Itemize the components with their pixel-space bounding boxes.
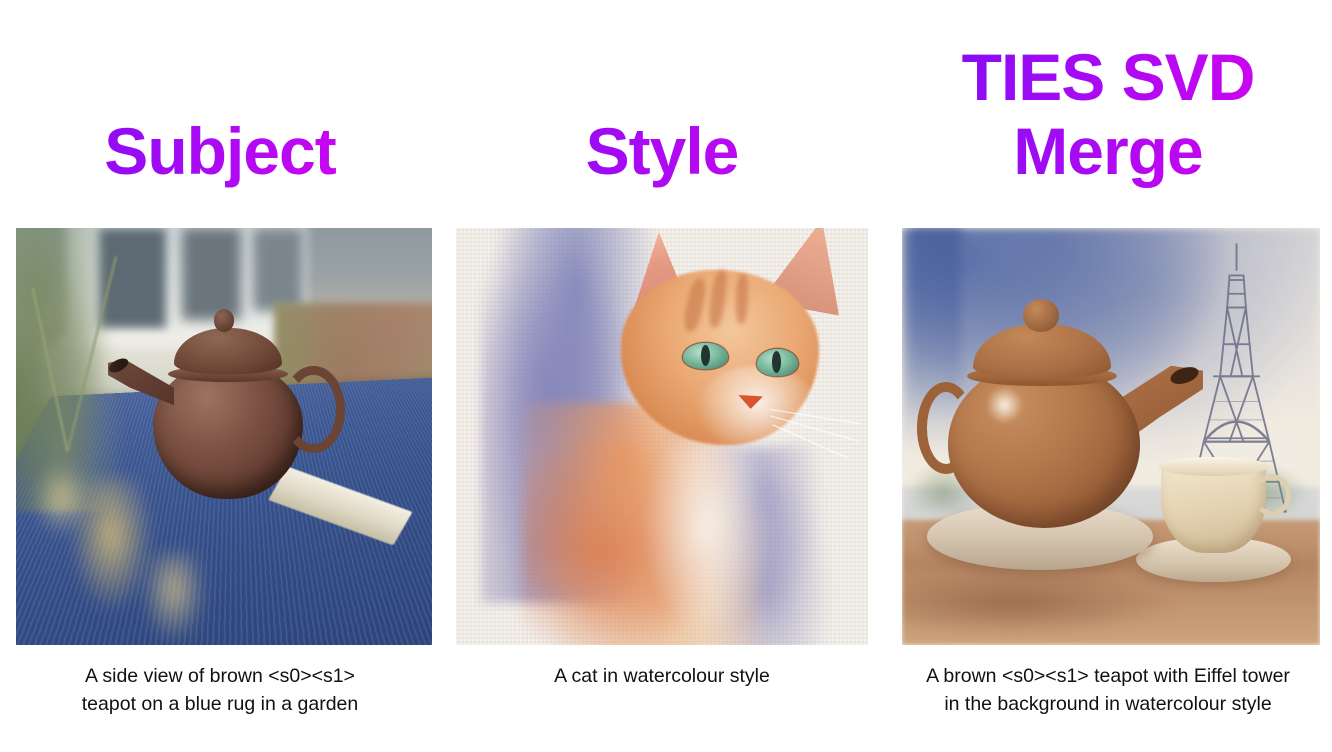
merged-watercolour-teapot-eiffel <box>902 228 1320 645</box>
subject-caption: A side view of brown <s0><s1> teapot on … <box>0 662 440 718</box>
teapot-body <box>948 361 1140 528</box>
column-ties-svd-merge: TIES SVD Merge <box>884 0 1332 752</box>
teapot-body <box>153 361 303 499</box>
teapot-handle <box>282 366 344 454</box>
cat-chest <box>637 445 777 645</box>
style-watercolour-cat <box>456 228 868 645</box>
teapot-highlight <box>986 386 1024 424</box>
column-title-style: Style <box>440 114 884 188</box>
column-subject: Subject <box>0 0 440 752</box>
cat-muzzle <box>695 366 819 458</box>
teapot-knob <box>1023 299 1059 332</box>
figure-root: Subject <box>0 0 1332 752</box>
merge-scene <box>902 228 1320 645</box>
column-title-ties-svd-merge: TIES SVD Merge <box>884 40 1332 188</box>
merge-caption: A brown <s0><s1> teapot with Eiffel towe… <box>884 662 1332 718</box>
window-pane-right <box>253 228 303 311</box>
table-shadow <box>902 570 1178 637</box>
subject-teapot-photo <box>16 228 432 645</box>
style-scene <box>456 228 868 645</box>
teacup-handle <box>1253 474 1291 516</box>
column-title-subject: Subject <box>0 114 440 188</box>
teacup-rim <box>1159 457 1268 475</box>
column-style: Style <box>440 0 884 752</box>
blurred-flower-2 <box>141 553 208 645</box>
style-caption: A cat in watercolour style <box>440 662 884 690</box>
cat-pupil-right <box>772 351 781 373</box>
window-pane-middle <box>182 228 240 320</box>
subject-scene <box>16 228 432 645</box>
